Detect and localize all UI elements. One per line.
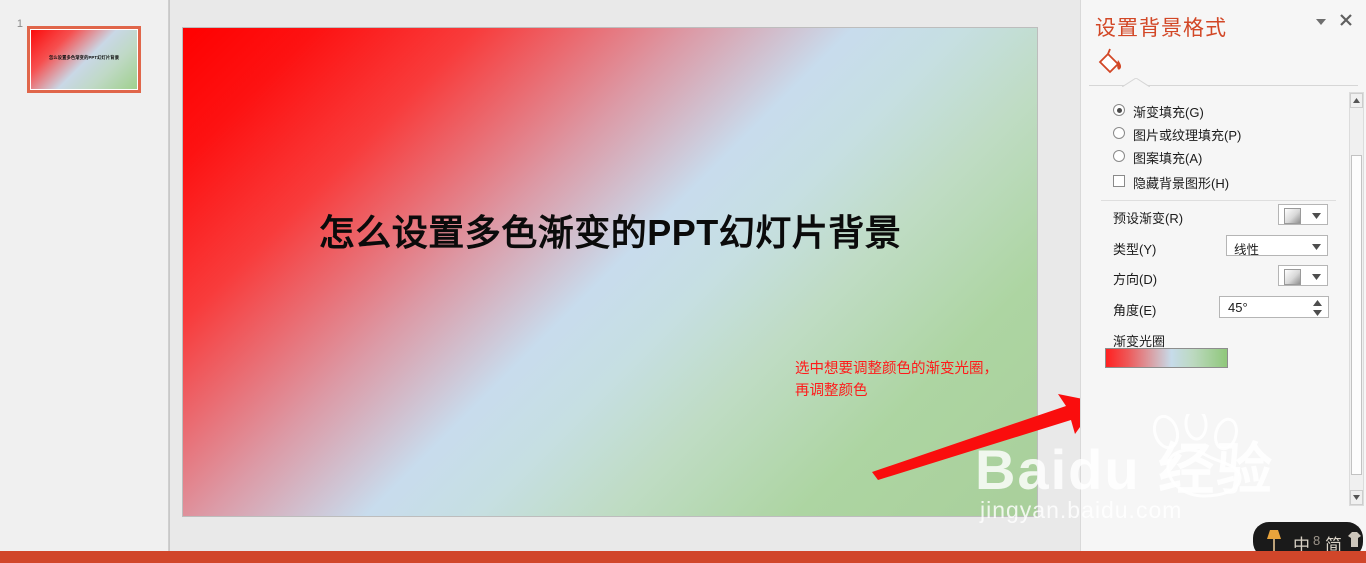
spinner-down-icon[interactable] — [1313, 309, 1322, 316]
radio-gradient-fill[interactable] — [1113, 104, 1125, 116]
thumbnail-preview: 怎么设置多色渐变的PPT幻灯片背景 — [31, 30, 137, 89]
pane-title: 设置背景格式 — [1095, 12, 1227, 42]
gradient-type-label: 类型(Y) — [1113, 239, 1156, 258]
active-tab-notch — [1122, 78, 1150, 87]
fill-option-label: 渐变填充(G) — [1133, 102, 1204, 121]
preset-gradient-label: 预设渐变(R) — [1113, 208, 1183, 227]
gradient-direction-dropdown[interactable] — [1278, 265, 1328, 286]
bottom-accent-strip — [0, 551, 1366, 563]
slide-thumbnail-pane[interactable]: 1 怎么设置多色渐变的PPT幻灯片背景 — [0, 0, 169, 551]
gradient-direction-label: 方向(D) — [1113, 269, 1157, 288]
hide-background-graphics-label: 隐藏背景图形(H) — [1133, 173, 1229, 192]
gradient-type-value: 线性 — [1234, 239, 1259, 258]
preset-gradient-dropdown[interactable] — [1278, 204, 1328, 225]
chevron-down-icon[interactable] — [1314, 14, 1328, 28]
close-icon[interactable] — [1338, 12, 1354, 28]
chevron-down-icon[interactable] — [1312, 274, 1321, 280]
paint-bucket-icon[interactable] — [1096, 46, 1124, 74]
gradient-angle-value: 45° — [1228, 300, 1248, 315]
slide-editing-area[interactable]: 怎么设置多色渐变的PPT幻灯片背景 选中想要调整颜色的渐变光圈， 再调整颜色 — [169, 0, 1081, 551]
annotation-arrow-icon — [870, 390, 1100, 480]
gradient-angle-label: 角度(E) — [1113, 300, 1156, 319]
pane-scrollbar[interactable] — [1349, 92, 1364, 506]
thumbnail-slide-number: 1 — [11, 18, 23, 30]
annotation-line-1: 选中想要调整颜色的渐变光圈， — [795, 358, 1038, 380]
thumbnail-frame[interactable]: 怎么设置多色渐变的PPT幻灯片背景 — [27, 26, 141, 93]
pane-scroll-body[interactable]: 渐变填充(G) 图片或纹理填充(P) 图案填充(A) 隐藏背景图形(H) 预设渐… — [1081, 88, 1366, 508]
format-background-pane[interactable]: 设置背景格式 渐变填充(G) 图片或纹理填充(P) — [1080, 0, 1366, 551]
gradient-angle-input[interactable]: 45° — [1219, 296, 1329, 318]
chevron-down-icon[interactable] — [1312, 244, 1321, 250]
spinner-up-icon[interactable] — [1313, 300, 1322, 307]
thumbnail-slide-1[interactable]: 1 怎么设置多色渐变的PPT幻灯片背景 — [0, 12, 168, 84]
radio-pattern-fill[interactable] — [1113, 150, 1125, 162]
scroll-up-arrow[interactable] — [1350, 93, 1363, 108]
section-divider — [1101, 200, 1336, 201]
gradient-stops-bar[interactable] — [1105, 348, 1228, 368]
gradient-swatch-icon — [1284, 208, 1301, 224]
scroll-down-arrow[interactable] — [1350, 490, 1363, 505]
chevron-down-icon[interactable] — [1312, 213, 1321, 219]
fill-option-label: 图片或纹理填充(P) — [1133, 125, 1241, 144]
checkbox-hide-background-graphics[interactable] — [1113, 175, 1125, 187]
gradient-type-select[interactable]: 线性 — [1226, 235, 1328, 256]
shirt-icon[interactable] — [1346, 531, 1363, 548]
ime-punctuation-label[interactable]: 8 — [1313, 533, 1320, 548]
slide-title-text: 怎么设置多色渐变的PPT幻灯片背景 — [183, 204, 1037, 256]
radio-picture-fill[interactable] — [1113, 127, 1125, 139]
direction-swatch-icon — [1284, 269, 1301, 285]
thumbnail-title-text: 怎么设置多色渐变的PPT幻灯片背景 — [31, 55, 137, 61]
scrollbar-thumb[interactable] — [1351, 155, 1362, 475]
fill-option-label: 图案填充(A) — [1133, 148, 1202, 167]
